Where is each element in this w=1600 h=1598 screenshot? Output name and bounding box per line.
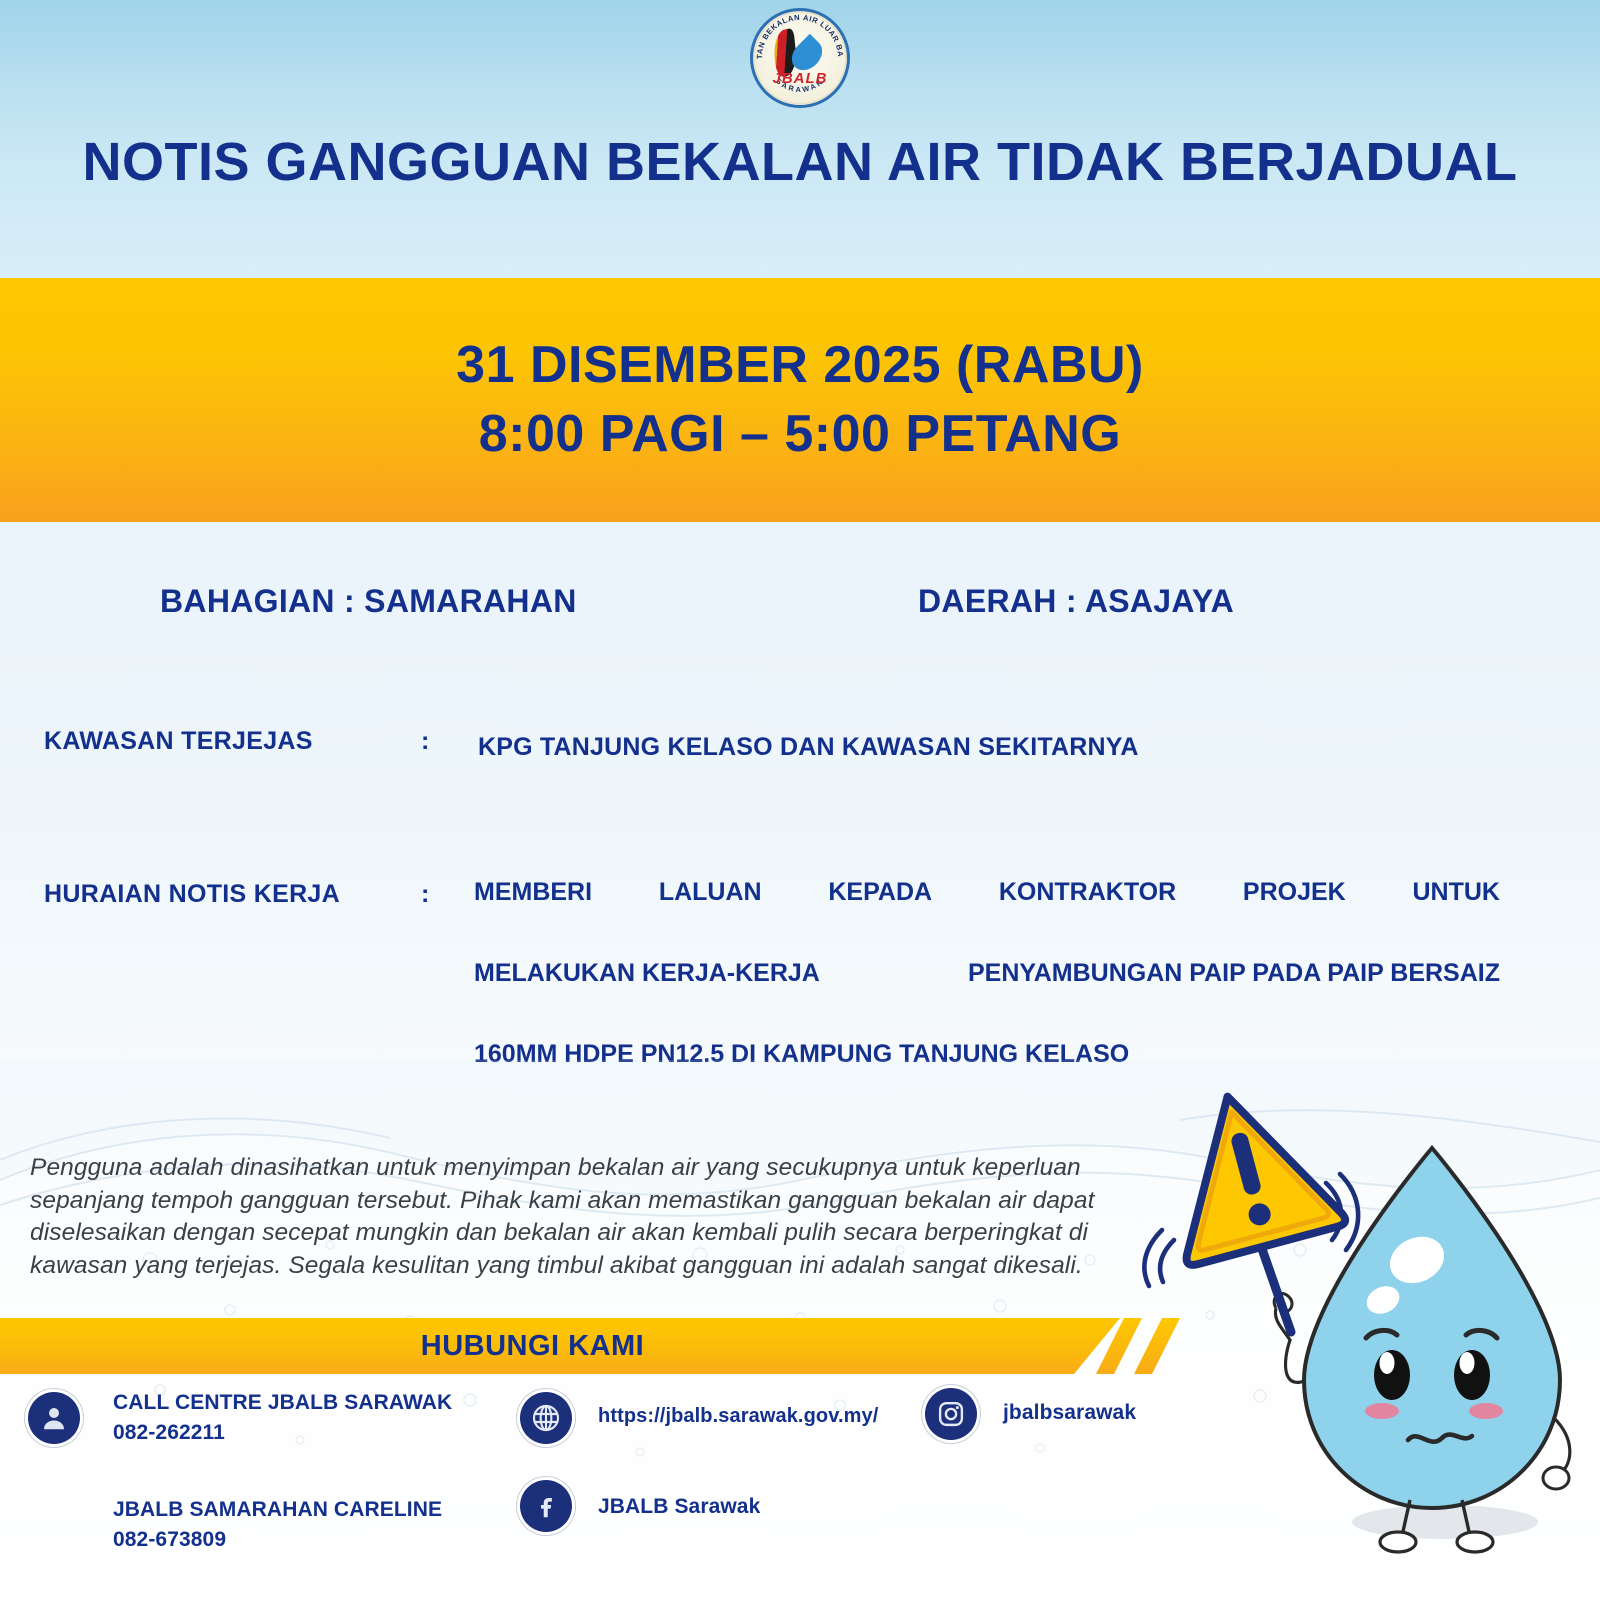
work-word: LALUAN	[659, 878, 762, 907]
call-centre-phone[interactable]: 082-262211	[113, 1418, 452, 1448]
header-band: JABATAN BEKALAN AIR LUAR BANDAR SARAWAK …	[0, 0, 1600, 278]
person-icon	[28, 1392, 80, 1444]
page-title: NOTIS GANGGUAN BEKALAN AIR TIDAK BERJADU…	[0, 131, 1600, 193]
work-word: KONTRAKTOR	[999, 878, 1176, 907]
contact-banner: HUBUNGI KAMI	[0, 1318, 1120, 1374]
contact-banner-title: HUBUNGI KAMI	[421, 1330, 645, 1363]
website-url[interactable]: https://jbalb.sarawak.gov.my/	[598, 1402, 878, 1430]
outage-time: 8:00 PAGI – 5:00 PETANG	[479, 400, 1121, 469]
affected-area-colon: :	[421, 727, 429, 756]
work-description-colon: :	[421, 880, 429, 909]
logo-acronym: JBALB	[750, 70, 850, 87]
work-description-line-1: MEMBERI LALUAN KEPADA KONTRAKTOR PROJEK …	[474, 878, 1500, 907]
work-word: PROJEK	[1243, 878, 1346, 907]
careline-name: JBALB SAMARAHAN CARELINE	[113, 1495, 442, 1525]
jbalb-logo: JABATAN BEKALAN AIR LUAR BANDAR SARAWAK …	[742, 4, 858, 116]
date-banner: 31 DISEMBER 2025 (RABU) 8:00 PAGI – 5:00…	[0, 278, 1600, 522]
affected-area-label: KAWASAN TERJEJAS	[44, 727, 313, 756]
division-label: BAHAGIAN : SAMARAHAN	[160, 583, 577, 620]
work-word: MEMBERI	[474, 878, 592, 907]
careline-phone[interactable]: 082-673809	[113, 1525, 442, 1555]
call-centre-name: CALL CENTRE JBALB SARAWAK	[113, 1388, 452, 1418]
work-description-line-3: 160MM HDPE PN12.5 DI KAMPUNG TANJUNG KEL…	[474, 1040, 1500, 1069]
work-description-value: MEMBERI LALUAN KEPADA KONTRAKTOR PROJEK …	[474, 878, 1500, 1069]
facebook-icon[interactable]	[520, 1480, 572, 1532]
work-phrase: PENYAMBUNGAN PAIP PADA PAIP BERSAIZ	[968, 959, 1500, 988]
work-word: KEPADA	[828, 878, 932, 907]
facebook-handle[interactable]: JBALB Sarawak	[598, 1492, 760, 1522]
instagram-icon[interactable]	[925, 1388, 977, 1440]
globe-icon[interactable]	[520, 1392, 572, 1444]
affected-area-value: KPG TANJUNG KELASO DAN KAWASAN SEKITARNY…	[478, 733, 1139, 762]
region-row: BAHAGIAN : SAMARAHAN DAERAH : ASAJAYA	[0, 583, 1600, 637]
district-label: DAERAH : ASAJAYA	[918, 583, 1234, 620]
careline-block: JBALB SAMARAHAN CARELINE 082-673809	[113, 1495, 442, 1555]
work-description-line-2: MELAKUKAN KERJA-KERJA PENYAMBUNGAN PAIP …	[474, 959, 1500, 988]
outage-date: 31 DISEMBER 2025 (RABU)	[456, 331, 1144, 400]
work-word: UNTUK	[1413, 878, 1501, 907]
advisory-paragraph: Pengguna adalah dinasihatkan untuk menyi…	[30, 1152, 1120, 1282]
instagram-handle[interactable]: jbalbsarawak	[1003, 1398, 1136, 1428]
work-description-label: HURAIAN NOTIS KERJA	[44, 880, 340, 909]
call-centre-block: CALL CENTRE JBALB SARAWAK 082-262211	[113, 1388, 452, 1448]
work-phrase: MELAKUKAN KERJA-KERJA	[474, 959, 820, 988]
